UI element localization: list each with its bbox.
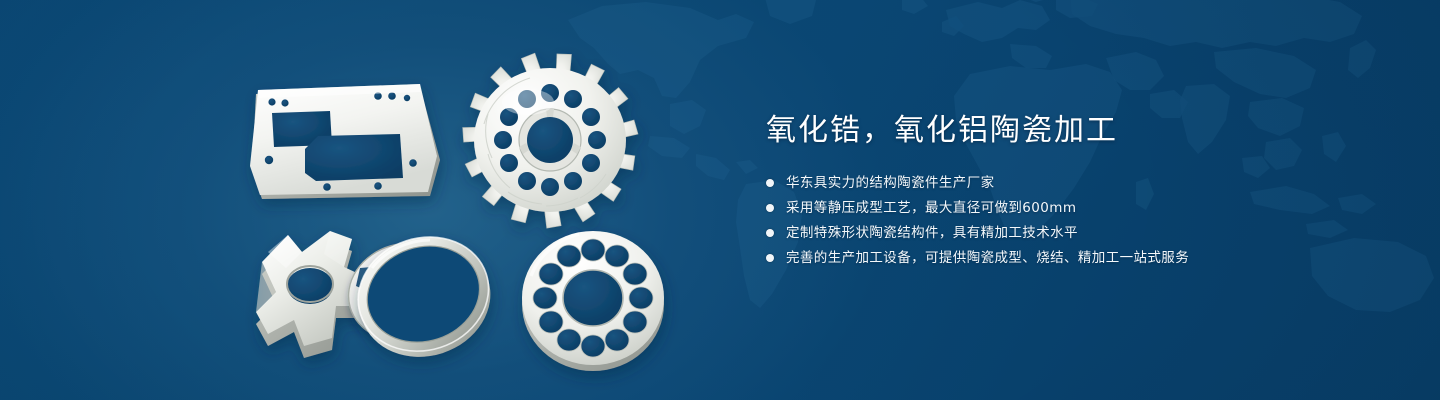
ceramic-impeller-part xyxy=(460,50,639,229)
bullet-dot-icon xyxy=(766,229,774,237)
list-item: 华东具实力的结构陶瓷件生产厂家 xyxy=(766,172,1366,194)
list-item: 定制特殊形状陶瓷结构件，具有精加工技术水平 xyxy=(766,222,1366,244)
bullet-dot-icon xyxy=(766,204,774,212)
list-item: 采用等静压成型工艺，最大直径可做到600mm xyxy=(766,197,1366,219)
ceramic-plate-part xyxy=(250,84,440,199)
feature-list: 华东具实力的结构陶瓷件生产厂家 采用等静压成型工艺，最大直径可做到600mm 定… xyxy=(766,172,1366,269)
list-item: 完善的生产加工设备，可提供陶瓷成型、烧结、精加工一站式服务 xyxy=(766,247,1366,269)
feature-text: 完善的生产加工设备，可提供陶瓷成型、烧结、精加工一站式服务 xyxy=(786,247,1189,269)
ceramic-perforated-flange-part xyxy=(522,231,664,371)
banner-copy: 氧化锆，氧化铝陶瓷加工 华东具实力的结构陶瓷件生产厂家 采用等静压成型工艺，最大… xyxy=(766,112,1366,272)
bullet-dot-icon xyxy=(766,179,774,187)
feature-text: 采用等静压成型工艺，最大直径可做到600mm xyxy=(786,197,1076,219)
feature-text: 华东具实力的结构陶瓷件生产厂家 xyxy=(786,172,995,194)
product-banner: 氧化锆，氧化铝陶瓷加工 华东具实力的结构陶瓷件生产厂家 采用等静压成型工艺，最大… xyxy=(0,0,1440,400)
ceramic-ring-part xyxy=(343,220,505,373)
product-photo-cluster xyxy=(0,0,720,400)
bullet-dot-icon xyxy=(766,254,774,262)
page-title: 氧化锆，氧化铝陶瓷加工 xyxy=(766,112,1366,150)
feature-text: 定制特殊形状陶瓷结构件，具有精加工技术水平 xyxy=(786,222,1078,244)
